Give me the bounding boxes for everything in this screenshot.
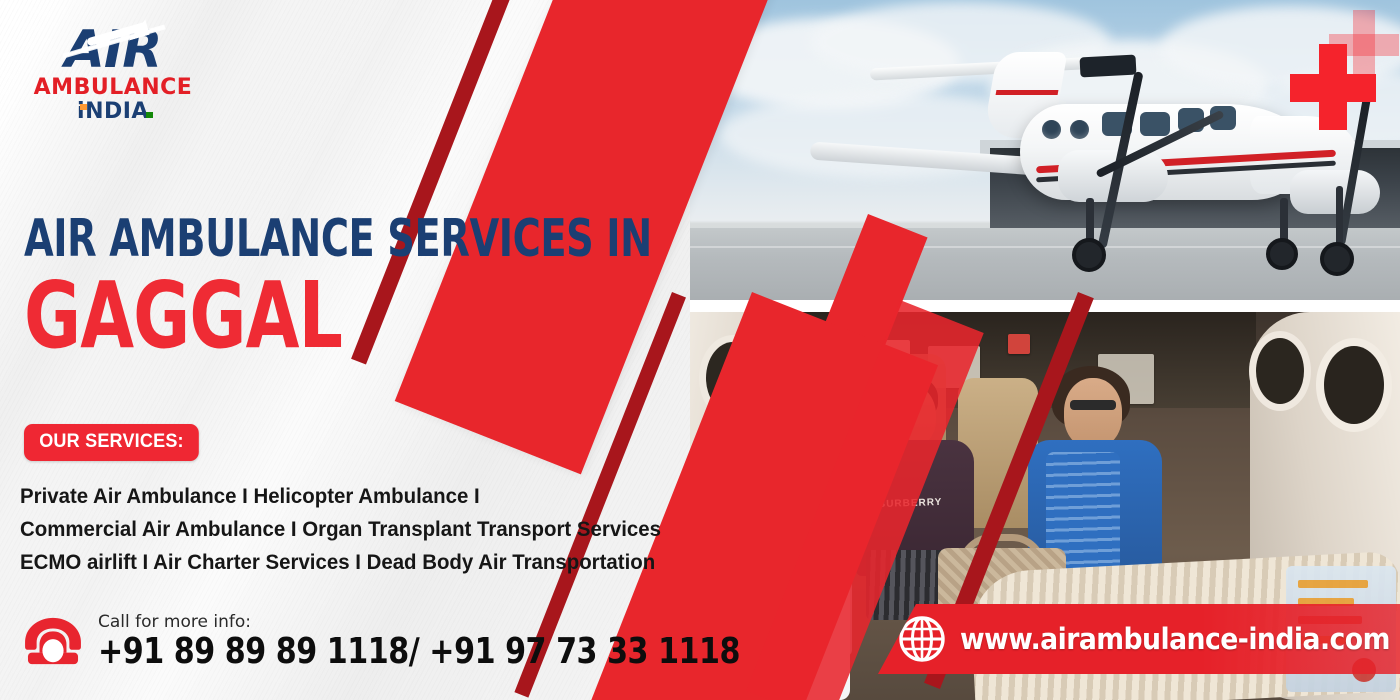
our-services-badge: OUR SERVICES: [24,424,199,461]
services-list: Private Air Ambulance I Helicopter Ambul… [20,480,771,579]
website-bar[interactable]: www.airambulance-india.com [878,604,1400,674]
call-label: Call for more info: [98,612,788,632]
telephone-icon [22,616,84,668]
eyeglasses [1070,400,1116,410]
headline-line-1: AIR AMBULANCE SERVICES IN [24,212,549,266]
logo-india-text: iNDIA [77,99,149,124]
nose-gear-strut [1336,186,1343,248]
headline-city-name: GAGGAL [24,268,562,364]
kit-item [1298,580,1368,588]
contact-block[interactable]: Call for more info: +91 89 89 89 1118/ +… [22,612,788,672]
air-ambulance-banner: BURBERRY [0,0,1400,700]
cabin-window [1140,112,1170,136]
landing-gear-wheel [1266,238,1298,270]
service-line: Private Air Ambulance I Helicopter Ambul… [20,480,771,513]
tail-stripe [996,90,1059,95]
medical-cross-icon [1290,44,1376,130]
cabin-window [1324,346,1384,424]
website-url[interactable]: www.airambulance-india.com [960,622,1390,656]
engine-nacelle [1290,170,1380,214]
logo-india-wrap: iNDIA [28,100,198,126]
cabin-window [1042,120,1061,139]
tricolor-saffron-accent [80,104,87,110]
phone-numbers[interactable]: +91 89 89 89 1118/ +91 97 73 33 1118 [98,632,740,672]
landing-gear-wheel [1072,238,1106,272]
service-line: Commercial Air Ambulance I Organ Transpl… [20,513,771,546]
page-title: AIR AMBULANCE SERVICES IN GAGGAL [24,212,664,364]
cabin-indicator [1008,334,1030,354]
cabin-window [1070,120,1089,139]
service-line: ECMO airlift I Air Charter Services I De… [20,546,771,579]
tricolor-green-accent [146,112,153,118]
cabin-window [1256,338,1304,404]
nose-gear-wheel [1320,242,1354,276]
stabilizer-tip [1080,55,1137,78]
face [1064,378,1122,448]
contact-text: Call for more info: +91 89 89 89 1118/ +… [98,612,788,672]
company-logo[interactable]: AIR AMBULANCE iNDIA [28,24,198,136]
